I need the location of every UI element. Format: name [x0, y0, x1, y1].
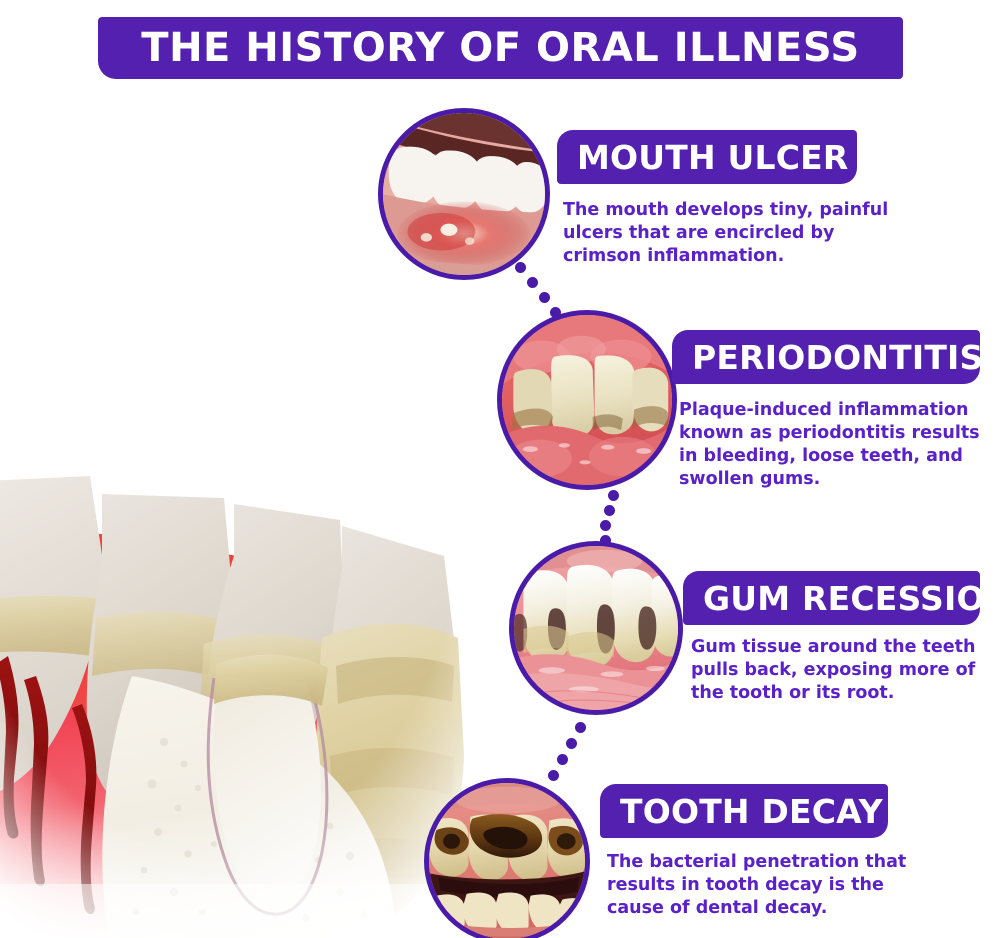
photo-periodontitis	[497, 310, 677, 490]
section-label: TOOTH DECAY	[620, 795, 883, 828]
section-label: PERIODONTITIS	[692, 341, 983, 374]
photo-gum-recession	[509, 541, 683, 715]
section-pill-gum-recession[interactable]: GUM RECESSION	[683, 571, 980, 625]
page-title-banner: THE HISTORY OF ORAL ILLNESS	[98, 17, 903, 79]
section-pill-tooth-decay[interactable]: TOOTH DECAY	[600, 784, 888, 838]
photo-tooth-decay	[424, 778, 590, 938]
photo-mouth-ulcer	[378, 108, 550, 280]
connector-recession-to-decay	[548, 722, 588, 782]
dental-illustration	[0, 236, 478, 938]
section-body-gum-recession: Gum tissue around the teeth pulls back, …	[691, 636, 999, 705]
connector-ulcer-to-periodontitis	[515, 262, 567, 322]
section-body-mouth-ulcer: The mouth develops tiny, painful ulcers …	[563, 199, 893, 268]
section-body-tooth-decay: The bacterial penetration that results i…	[607, 851, 927, 920]
page-title: THE HISTORY OF ORAL ILLNESS	[141, 28, 859, 68]
connector-periodontitis-to-recession	[600, 490, 634, 546]
infographic-root: THE HISTORY OF ORAL ILLNESS	[0, 0, 1000, 938]
section-label: MOUTH ULCER	[577, 141, 849, 174]
section-label: GUM RECESSION	[703, 582, 1000, 615]
section-pill-mouth-ulcer[interactable]: MOUTH ULCER	[557, 130, 857, 184]
section-body-periodontitis: Plaque-induced inflammation known as per…	[679, 399, 997, 491]
section-pill-periodontitis[interactable]: PERIODONTITIS	[672, 330, 980, 384]
